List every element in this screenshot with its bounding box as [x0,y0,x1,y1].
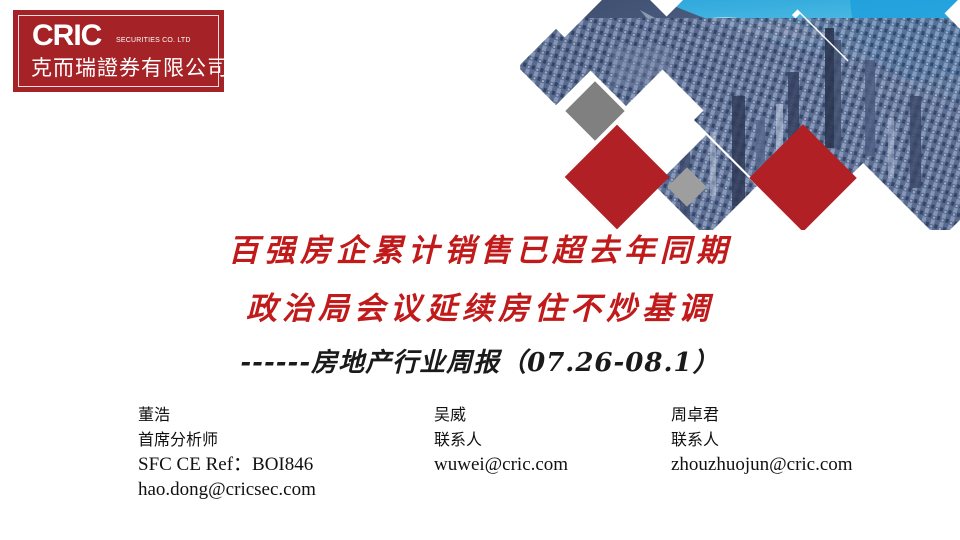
contact-block: 董浩 首席分析师 SFC CE Ref：BOI846 hao.dong@cric… [138,402,938,502]
logo-tagline: SECURITIES CO. LTD [116,37,191,44]
report-subtitle: ------房地产行业周报（07.26-08.1） [0,338,960,388]
contact-name: 吴威 [434,402,671,427]
logo-chinese-name: 克而瑞證券有限公司 [31,52,229,82]
contact-column-1: 董浩 首席分析师 SFC CE Ref：BOI846 hao.dong@cric… [138,402,434,502]
contact-role: 联系人 [671,427,931,452]
contact-role: 首席分析师 [138,427,434,452]
contact-email[interactable]: hao.dong@cricsec.com [138,477,434,502]
contact-email[interactable]: zhouzhuojun@cric.com [671,452,931,477]
contact-role: 联系人 [434,427,671,452]
contact-license: SFC CE Ref：BOI846 [138,452,434,477]
logo-border: CRIC SECURITIES CO. LTD 克而瑞證券有限公司 [18,15,219,87]
contact-column-3: 周卓君 联系人 zhouzhuojun@cric.com [671,402,931,477]
contact-name: 周卓君 [671,402,931,427]
title-line-2: 政治局会议延续房住不炒基调 [0,280,960,338]
city-skyline-diamond-mosaic [520,0,960,230]
presentation-title-slide: CRIC SECURITIES CO. LTD 克而瑞證券有限公司 百强房企累计… [0,0,960,540]
logo-wordmark: CRIC [32,19,101,53]
contact-email[interactable]: wuwei@cric.com [434,452,671,477]
title-block: 百强房企累计销售已超去年同期 政治局会议延续房住不炒基调 ------房地产行业… [0,222,960,388]
accent-diamonds [565,81,857,230]
title-line-1: 百强房企累计销售已超去年同期 [0,222,960,280]
cityscape-tiles [520,0,960,230]
contact-column-2: 吴威 联系人 wuwei@cric.com [434,402,671,477]
cric-securities-logo: CRIC SECURITIES CO. LTD 克而瑞證券有限公司 [13,10,224,92]
contact-name: 董浩 [138,402,434,427]
